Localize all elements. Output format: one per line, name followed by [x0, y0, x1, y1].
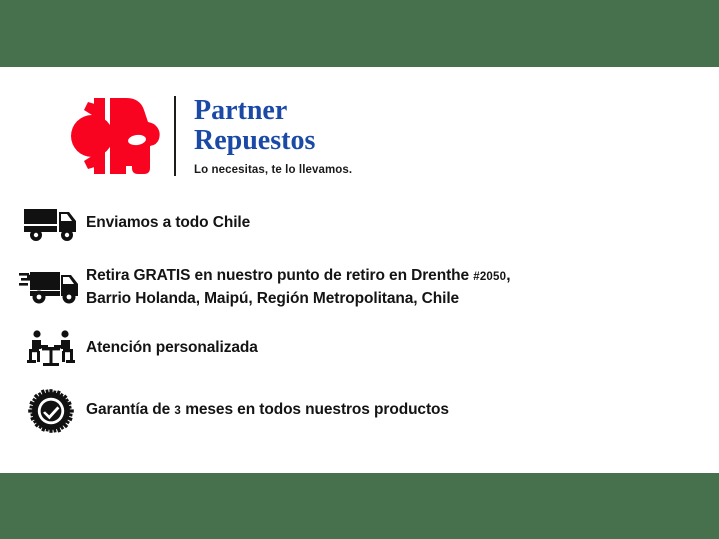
moving-truck-icon [16, 265, 86, 307]
top-green-band [0, 0, 719, 67]
logo-divider [174, 96, 176, 176]
feature-label-line2: Barrio Holanda, Maipú, Región Metropolit… [86, 290, 459, 307]
feature-label: Enviamos a todo Chile [86, 203, 250, 234]
feature-label-lead: Retira GRATIS en nuestro punto de retiro… [86, 267, 473, 284]
feature-row: Garantía de 3 meses en todos nuestros pr… [16, 390, 706, 432]
feature-row: Retira GRATIS en nuestro punto de retiro… [16, 265, 706, 310]
feature-row: Enviamos a todo Chile [16, 203, 706, 245]
feature-label: Retira GRATIS en nuestro punto de retiro… [86, 265, 510, 310]
banner-content: Partner Repuestos Lo necesitas, te lo ll… [0, 67, 719, 473]
feature-label: Atención personalizada [86, 328, 258, 359]
feature-label-tail: , [506, 267, 510, 284]
warranty-months-number: 3 [174, 405, 181, 417]
brand-tagline: Lo necesitas, te lo llevamos. [194, 163, 352, 177]
gear-car-logo-icon [58, 94, 164, 178]
bottom-green-band [0, 473, 719, 539]
feature-label-lead: Garantía de [86, 401, 174, 418]
feature-label: Garantía de 3 meses en todos nuestros pr… [86, 390, 449, 422]
guarantee-badge-check-icon [16, 390, 86, 432]
brand-name-line-1: Partner [194, 96, 352, 126]
address-number: #2050 [473, 271, 506, 283]
promo-banner: Partner Repuestos Lo necesitas, te lo ll… [0, 0, 719, 539]
delivery-truck-icon [16, 203, 86, 245]
feature-row: Atención personalizada [16, 328, 706, 370]
brand-wordmark: Partner Repuestos Lo necesitas, te lo ll… [194, 96, 352, 177]
brand-logo-lockup: Partner Repuestos Lo necesitas, te lo ll… [58, 94, 352, 178]
feature-label-tail: meses en todos nuestros productos [181, 401, 449, 418]
people-at-table-icon [16, 328, 86, 370]
brand-name-line-2: Repuestos [194, 126, 352, 156]
